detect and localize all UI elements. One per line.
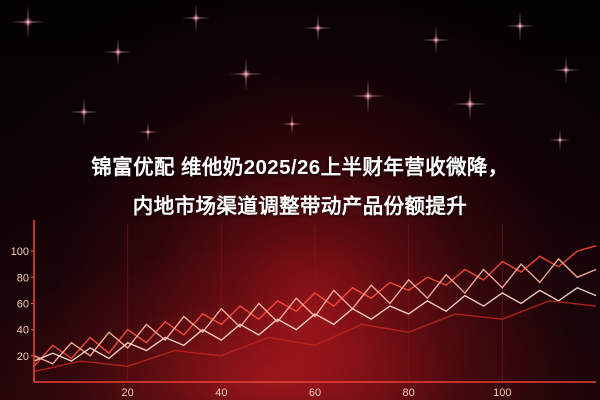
chart-xtick-label: 80 [403, 387, 415, 399]
headline-text: 锦富优配 维他奶2025/26上半财年营收微降， 内地市场渠道调整带动产品份额提… [0, 148, 600, 226]
chart-xtick-label: 60 [309, 387, 321, 399]
chart-xtick-label: 40 [215, 387, 227, 399]
chart-tick-labels: 2040608010020406080100 [11, 246, 512, 399]
chart-ytick-label: 40 [17, 325, 29, 337]
chart-ytick-label: 100 [11, 246, 29, 258]
headline-line-2: 内地市场渠道调整带动产品份额提升 [18, 187, 582, 226]
headline-line-1: 锦富优配 维他奶2025/26上半财年营收微降， [18, 148, 582, 187]
screenshot-root: 2040608010020406080100 锦富优配 维他奶2025/26上半… [0, 0, 600, 400]
chart-ytick-label: 80 [17, 272, 29, 284]
chart-xtick-label: 100 [493, 387, 511, 399]
chart-vertical-rules [128, 224, 503, 382]
chart-ytick-label: 60 [17, 298, 29, 310]
chart-ytick-label: 20 [17, 351, 29, 363]
chart-xtick-label: 20 [122, 387, 134, 399]
